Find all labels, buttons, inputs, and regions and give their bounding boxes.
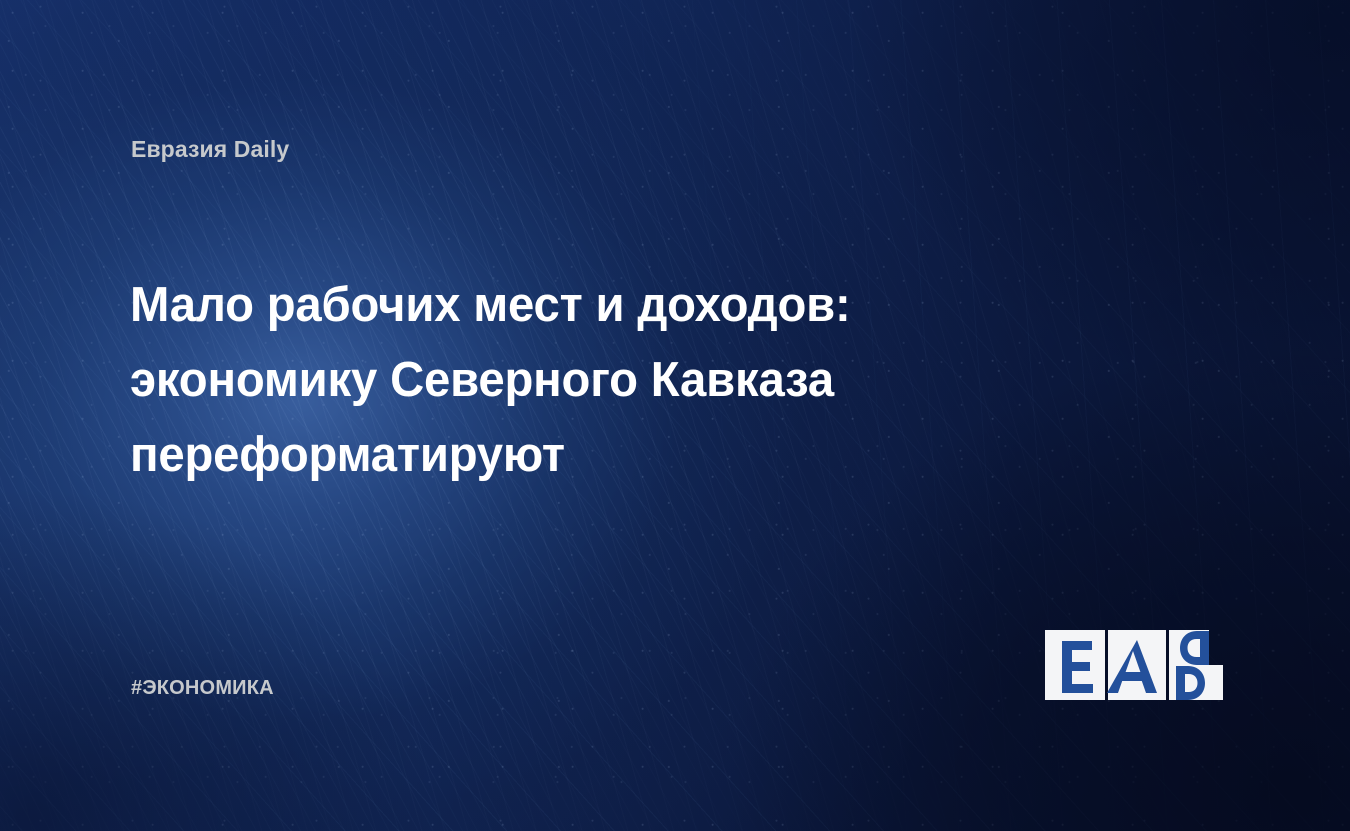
card-content: Евразия Daily Мало рабочих мест и доходо… (0, 0, 1350, 831)
news-card: Евразия Daily Мало рабочих мест и доходо… (0, 0, 1350, 831)
eadaily-logo (1045, 629, 1223, 701)
category-hashtag: #ЭКОНОМИКА (131, 677, 274, 700)
site-name: Евразия Daily (131, 136, 289, 163)
eadaily-logo-icon (1045, 629, 1223, 701)
headline: Мало рабочих мест и доходов: экономику С… (130, 268, 960, 493)
